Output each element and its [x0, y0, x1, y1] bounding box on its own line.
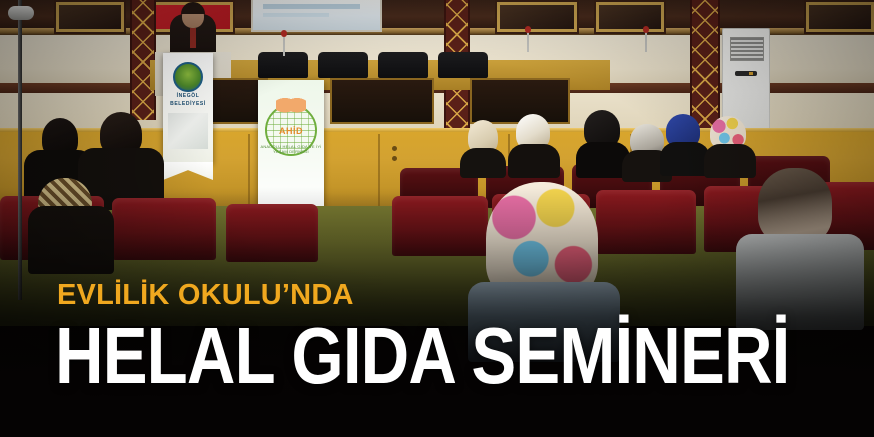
news-photo-card: İNEGÖL BELEDİYESİ AHİD ANADOLU HELAL GID… — [0, 0, 874, 437]
headline-kicker: EVLİLİK OKULU’NDA — [57, 281, 354, 310]
headline-main: HELAL GIDA SEMİNERİ — [55, 322, 790, 391]
